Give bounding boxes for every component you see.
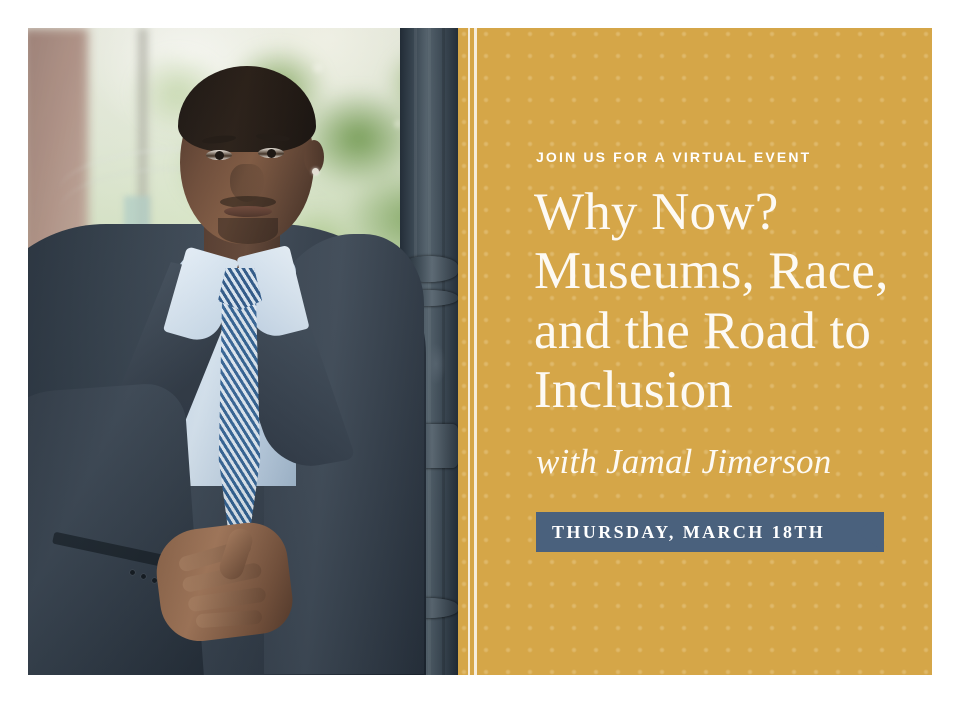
- speaker-figure: [28, 28, 458, 675]
- flyer-page: JOIN US FOR A VIRTUAL EVENT Why Now? Mus…: [0, 0, 960, 714]
- event-title: Why Now? Museums, Race, and the Road to …: [534, 183, 932, 420]
- pupil-right: [267, 149, 276, 158]
- speaker-photo: [28, 28, 458, 675]
- earring: [312, 168, 319, 175]
- event-date-text: THURSDAY, MARCH 18TH: [552, 512, 825, 552]
- hair: [178, 66, 316, 152]
- flyer-text-column: JOIN US FOR A VIRTUAL EVENT Why Now? Mus…: [536, 28, 926, 675]
- divider-rule-thick: [474, 28, 477, 675]
- pupil-left: [215, 151, 224, 160]
- beard: [218, 218, 278, 244]
- event-eyebrow: JOIN US FOR A VIRTUAL EVENT: [536, 149, 811, 165]
- event-date-banner: THURSDAY, MARCH 18TH: [536, 512, 884, 552]
- divider-rule-thin: [468, 28, 470, 675]
- speaker-name: with Jamal Jimerson: [536, 442, 831, 482]
- flyer-content-block: JOIN US FOR A VIRTUAL EVENT Why Now? Mus…: [28, 28, 932, 675]
- gold-dotted-panel: JOIN US FOR A VIRTUAL EVENT Why Now? Mus…: [458, 28, 932, 675]
- mouth: [224, 206, 272, 217]
